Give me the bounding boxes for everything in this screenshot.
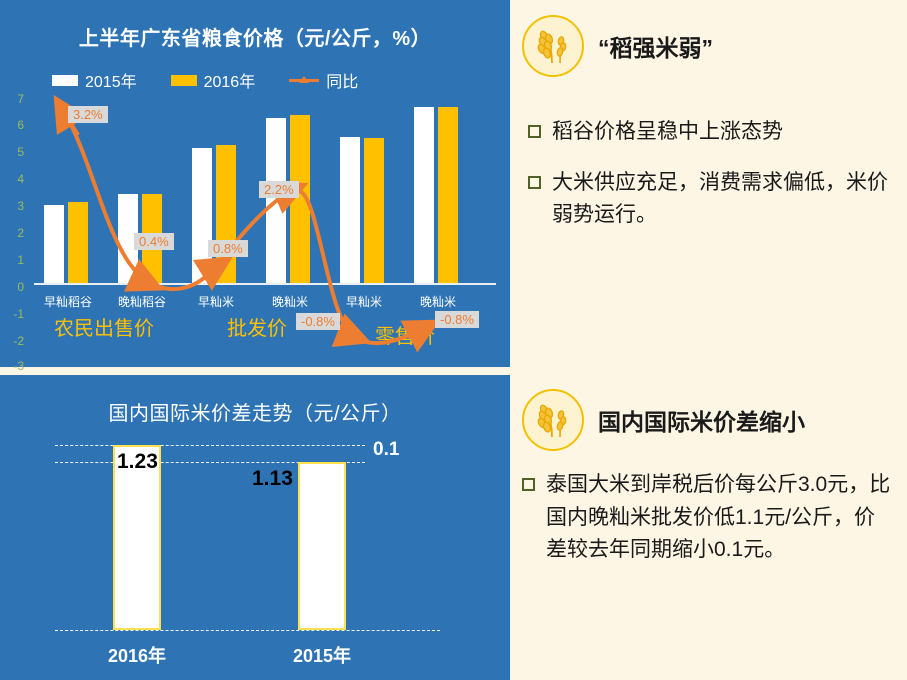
legend-label-yoy: 同比 [326, 68, 358, 92]
y-tick-0: 0 [4, 280, 24, 294]
x-label-2: 早籼米 [174, 293, 258, 310]
bar-value-2015: 1.13 [252, 467, 293, 491]
chart-legend: 2015年 2016年 同比 [52, 68, 358, 92]
bar-2015-3 [266, 118, 286, 283]
gridline-baseline [55, 630, 440, 631]
legend-swatch-line-icon [289, 75, 319, 86]
group-label-farmer: 农民出售价 [24, 312, 184, 341]
gridline-top [55, 445, 365, 446]
bullet-item: 泰国大米到岸税后价每公斤3.0元，比国内晚籼米批发价低1.1元/公斤，价差较去年… [522, 469, 894, 567]
bar-2016-4 [364, 138, 384, 283]
square-bullet-icon [528, 176, 541, 189]
bar-value-2016: 1.23 [117, 450, 158, 474]
bar-2016-5 [438, 107, 458, 283]
right-bottom-bullets: 泰国大米到岸税后价每公斤3.0元，比国内晚籼米批发价低1.1元/公斤，价差较去年… [522, 469, 894, 585]
price-gap-chart-panel: 国内国际米价差走势（元/公斤） 1.23 1.13 0.1 2016年 2015… [0, 375, 510, 680]
bullet-text: 泰国大米到岸税后价每公斤3.0元，比国内晚籼米批发价低1.1元/公斤，价差较去年… [546, 469, 894, 567]
yoy-data-label-1: 0.4% [134, 233, 174, 250]
bar-2015-2 [192, 148, 212, 283]
y-tick-neg3: -3 [4, 359, 24, 373]
x-label-3: 晚籼米 [248, 293, 332, 310]
grain-price-chart-panel: 上半年广东省粮食价格（元/公斤，%） 2015年 2016年 同比 7 6 5 … [0, 0, 510, 367]
bar-2015-4 [340, 137, 360, 283]
x-label-1: 晚籼稻谷 [100, 293, 184, 310]
x-label-4: 早籼米 [322, 293, 406, 310]
legend-swatch-2016 [171, 75, 197, 86]
yoy-data-label-5: -0.8% [435, 311, 479, 328]
bar-2016-0 [68, 202, 88, 283]
legend-label-2015: 2015年 [85, 68, 137, 92]
gap-annotation: 0.1 [373, 439, 399, 461]
x-label-2015: 2015年 [276, 642, 368, 668]
yoy-data-label-0: 3.2% [68, 106, 108, 123]
bar-2015-0 [44, 205, 64, 283]
yoy-data-label-2: 0.8% [208, 240, 248, 257]
right-top-header: “稻强米弱” [522, 15, 713, 77]
y-tick-2: 2 [4, 226, 24, 240]
legend-swatch-2015 [52, 75, 78, 86]
right-top-panel: “稻强米弱” 稻谷价格呈稳中上涨态势 大米供应充足，消费需求偏低，米价弱势运行。 [510, 0, 907, 367]
wheat-icon [522, 389, 584, 451]
bar-2015 [298, 462, 346, 630]
y-tick-4: 4 [4, 172, 24, 186]
bullet-item: 稻谷价格呈稳中上涨态势 [528, 116, 890, 149]
legend-label-2016: 2016年 [204, 68, 256, 92]
yoy-data-label-3: 2.2% [259, 181, 299, 198]
y-tick-1: 1 [4, 253, 24, 267]
bar-2015-5 [414, 107, 434, 283]
y-tick-7: 7 [4, 92, 24, 106]
legend-item-2016: 2016年 [171, 68, 256, 92]
right-bottom-heading: 国内国际米价差缩小 [598, 403, 805, 437]
right-top-heading: “稻强米弱” [598, 29, 713, 63]
bullet-text: 大米供应充足，消费需求偏低，米价弱势运行。 [552, 167, 890, 232]
grain-price-plot-area: 7 6 5 4 3 2 1 0 -1 -2 -3 早籼稻谷 晚籼稻谷 早籼米 [30, 98, 500, 356]
y-tick-3: 3 [4, 199, 24, 213]
right-bottom-panel: 国内国际米价差缩小 泰国大米到岸税后价每公斤3.0元，比国内晚籼米批发价低1.1… [510, 367, 907, 680]
price-gap-plot-area: 1.23 1.13 0.1 2016年 2015年 [55, 445, 475, 630]
y-tick-neg1: -1 [4, 307, 24, 321]
wheat-icon [522, 15, 584, 77]
bar-2016-3 [290, 115, 310, 283]
square-bullet-icon [522, 478, 535, 491]
right-bottom-header: 国内国际米价差缩小 [522, 389, 805, 451]
bar-2016-2 [216, 145, 236, 283]
y-tick-neg2: -2 [4, 334, 24, 348]
bullet-text: 稻谷价格呈稳中上涨态势 [552, 116, 783, 149]
legend-item-yoy: 同比 [289, 68, 358, 92]
yoy-data-label-4: -0.8% [296, 313, 340, 330]
x-label-2016: 2016年 [91, 642, 183, 668]
x-label-0: 早籼稻谷 [26, 293, 110, 310]
x-axis-line [34, 283, 496, 285]
legend-item-2015: 2015年 [52, 68, 137, 92]
price-gap-chart-title: 国内国际米价差走势（元/公斤） [0, 397, 510, 426]
y-tick-5: 5 [4, 145, 24, 159]
bullet-item: 大米供应充足，消费需求偏低，米价弱势运行。 [528, 167, 890, 232]
right-top-bullets: 稻谷价格呈稳中上涨态势 大米供应充足，消费需求偏低，米价弱势运行。 [528, 116, 890, 250]
grain-price-chart-title: 上半年广东省粮食价格（元/公斤，%） [0, 22, 510, 51]
y-tick-6: 6 [4, 118, 24, 132]
square-bullet-icon [528, 125, 541, 138]
x-label-5: 晚籼米 [396, 293, 480, 310]
